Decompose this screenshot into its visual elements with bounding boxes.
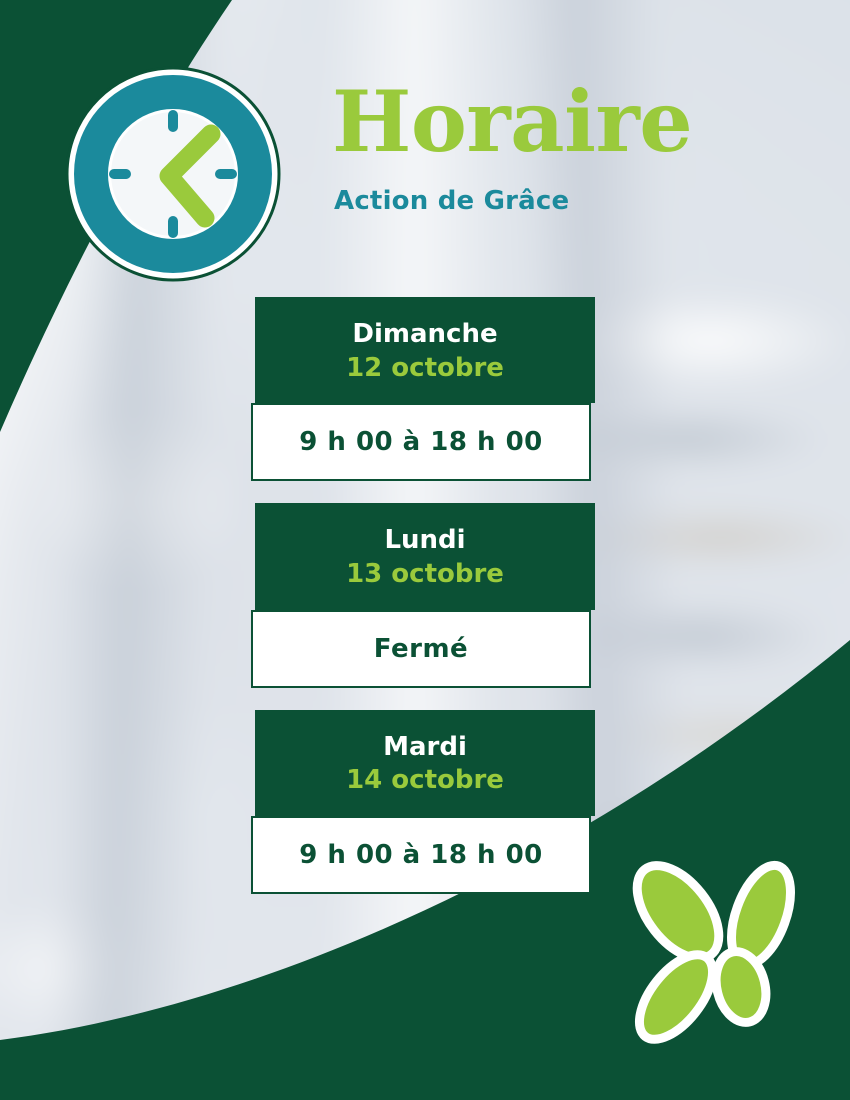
schedule-card: Dimanche 12 octobre 9 h 00 à 18 h 00 — [255, 297, 595, 481]
page-title: Horaire — [332, 80, 752, 164]
schedule-day-label: Dimanche — [265, 319, 585, 350]
petal-bottom-left — [626, 942, 727, 1052]
title-block: Horaire Action de Grâce — [332, 80, 752, 216]
schedule-poster: Horaire Action de Grâce Dimanche 12 octo… — [0, 0, 850, 1100]
schedule-card-header: Lundi 13 octobre — [255, 503, 595, 609]
schedule-hours-label: Fermé — [261, 634, 581, 664]
schedule-card: Lundi 13 octobre Fermé — [255, 503, 595, 687]
schedule-date-label: 14 octobre — [265, 765, 585, 796]
schedule-card-body: 9 h 00 à 18 h 00 — [251, 403, 591, 481]
schedule-hours-label: 9 h 00 à 18 h 00 — [261, 427, 581, 457]
schedule-card-body: 9 h 00 à 18 h 00 — [251, 816, 591, 894]
schedule-day-label: Mardi — [265, 732, 585, 763]
schedule-list: Dimanche 12 octobre 9 h 00 à 18 h 00 Lun… — [0, 297, 850, 916]
butterfly-logo-icon — [616, 857, 826, 1057]
schedule-date-label: 13 octobre — [265, 559, 585, 590]
schedule-date-label: 12 octobre — [265, 353, 585, 384]
petal-top-left — [621, 857, 735, 973]
schedule-card-header: Mardi 14 octobre — [255, 710, 595, 816]
clock-icon — [65, 66, 281, 282]
schedule-card-body: Fermé — [251, 610, 591, 688]
poster-header: Horaire Action de Grâce — [0, 0, 850, 290]
schedule-day-label: Lundi — [265, 525, 585, 556]
page-subtitle: Action de Grâce — [334, 186, 752, 216]
schedule-card-header: Dimanche 12 octobre — [255, 297, 595, 403]
schedule-hours-label: 9 h 00 à 18 h 00 — [261, 840, 581, 870]
schedule-card: Mardi 14 octobre 9 h 00 à 18 h 00 — [255, 710, 595, 894]
